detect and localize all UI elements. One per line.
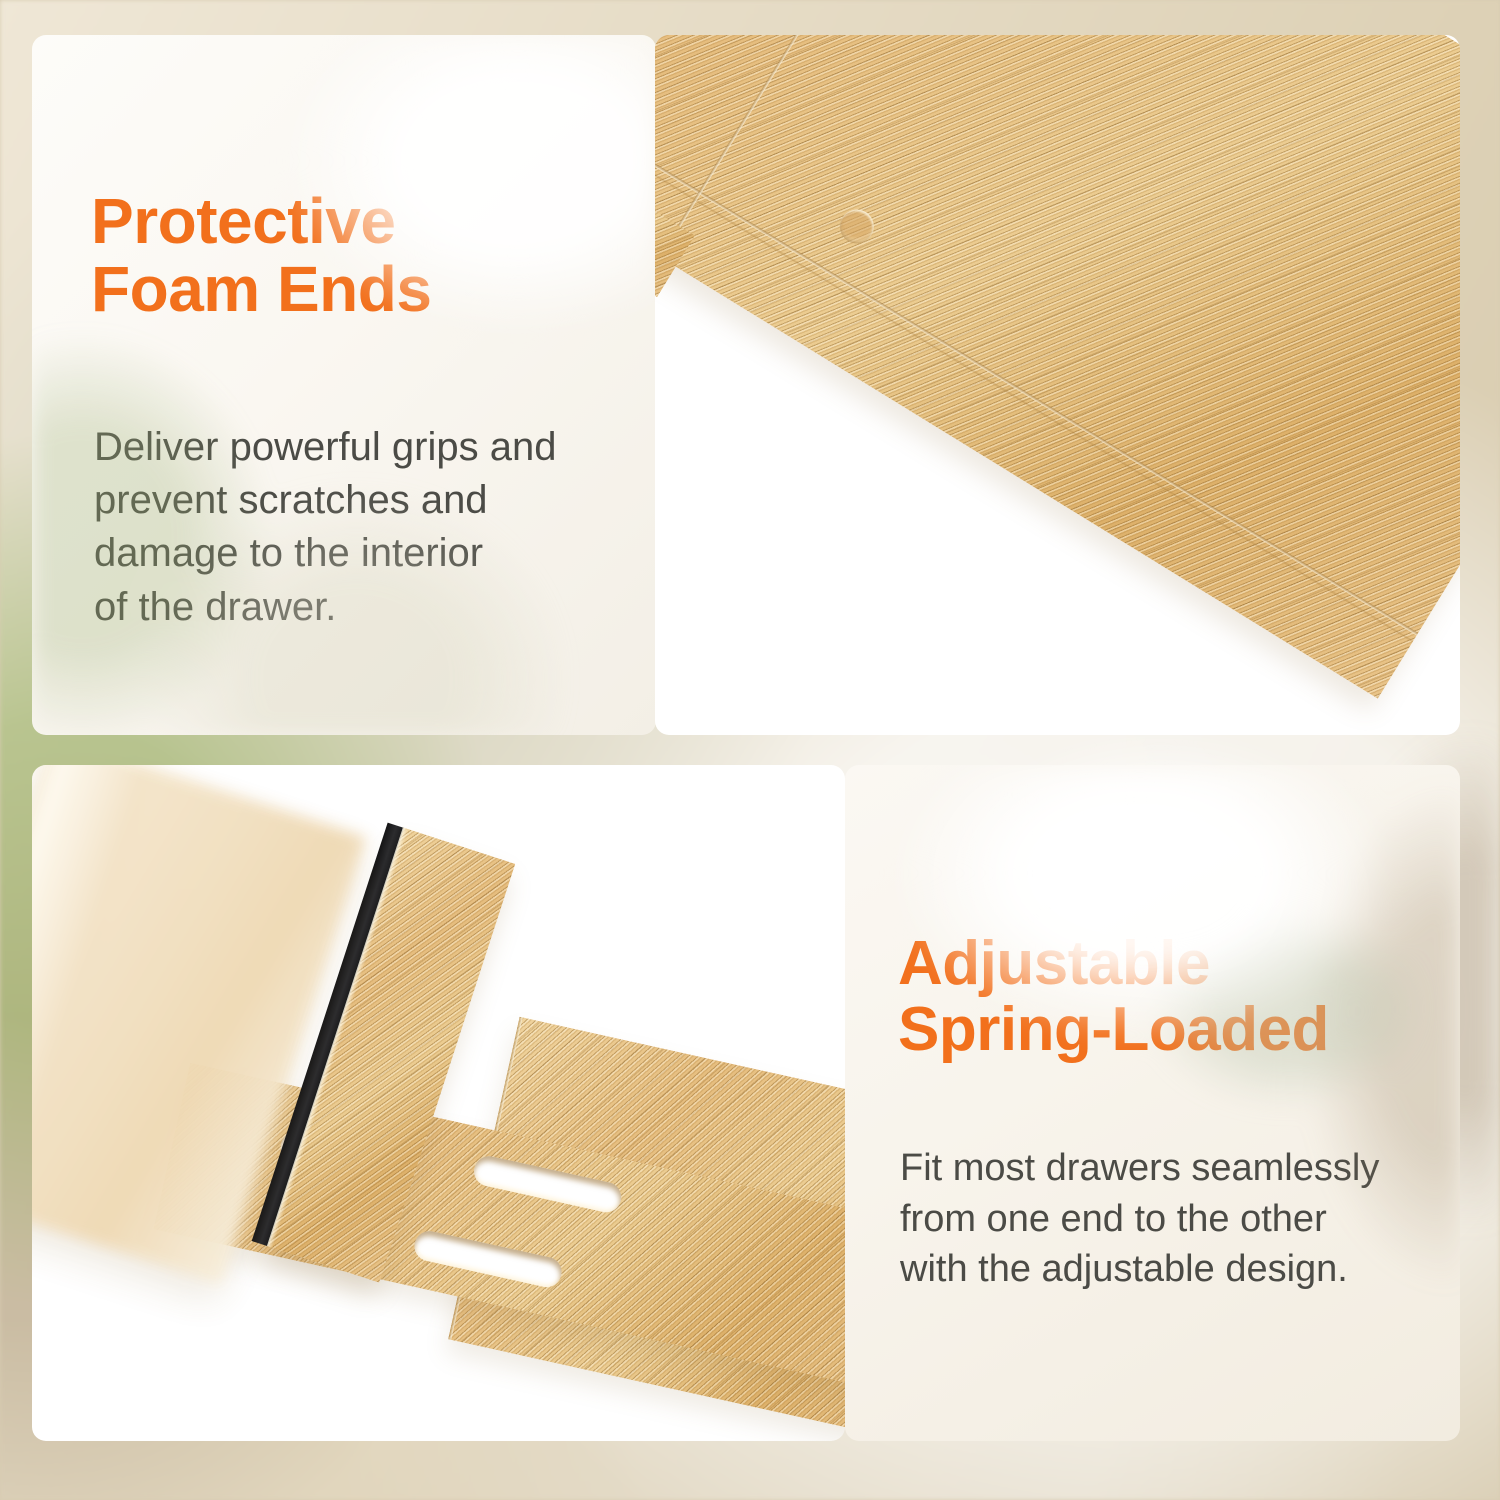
panel-adjustable-spring-loaded: Adjustable Spring-Loaded Fit most drawer… [845,765,1460,1441]
adjustment-slot [471,1153,624,1215]
board-inset-seam-shadow [655,75,1413,643]
blurred-plank-face [32,765,152,1215]
board-butt-joint [659,35,976,258]
panel-photo-adjustable-slots [32,765,845,1441]
headline-protective-foam-ends: Protective Foam Ends [91,187,431,324]
panel-photo-foam-end-closeup [655,35,1460,735]
bamboo-divider-board [655,35,1460,698]
adjustment-slot [412,1228,565,1290]
body-protective-foam-ends: Deliver powerful grips and prevent scrat… [94,421,556,634]
photo-crossing-bamboo-dividers [32,765,845,1441]
body-adjustable-spring-loaded: Fit most drawers seamlessly from one end… [900,1143,1379,1295]
panel-protective-foam-ends: Protective Foam Ends Deliver powerful gr… [32,35,656,735]
photo-bamboo-divider-foam-end [655,35,1460,735]
headline-adjustable-spring-loaded: Adjustable Spring-Loaded [898,931,1329,1064]
board-dimple-detail [833,203,880,250]
board-inset-seam [655,67,1418,635]
infographic-canvas: Protective Foam Ends Deliver powerful gr… [0,0,1500,1500]
